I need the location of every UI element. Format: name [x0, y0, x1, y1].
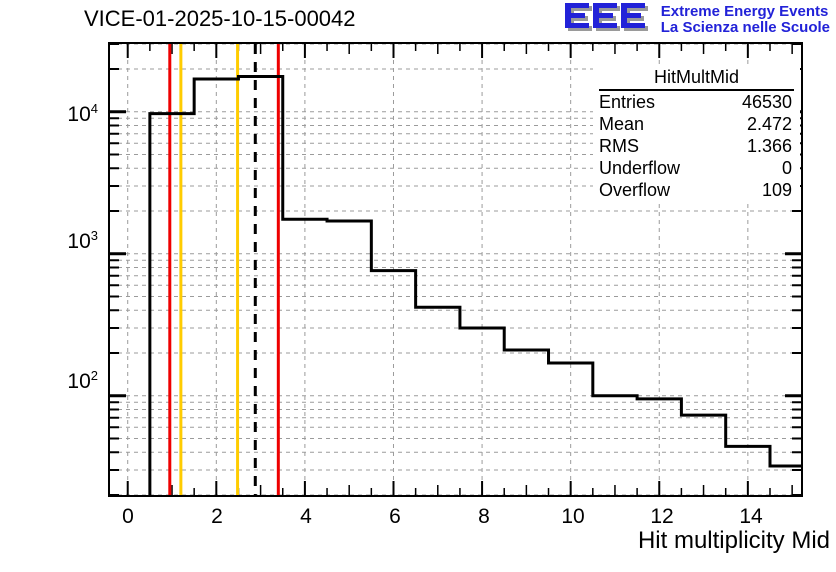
stats-row-overflow: Overflow 109	[597, 180, 796, 202]
stats-row-underflow: Underflow 0	[597, 158, 796, 180]
y-ticklabel-1e3: 103	[46, 228, 98, 254]
root-canvas: VICE-01-2025-10-15-00042	[0, 0, 836, 572]
stats-box: HitMultMid Entries 46530 Mean 2.472 RMS …	[593, 66, 800, 204]
stats-title: HitMultMid	[597, 67, 796, 89]
stats-value-underflow: 0	[782, 158, 796, 180]
x-ticklabel-2: 2	[197, 505, 237, 529]
eee-logo-line2: La Scienza nelle Scuole	[661, 20, 830, 36]
x-ticklabel-6: 6	[375, 505, 415, 529]
stats-value-rms: 1.366	[747, 136, 796, 158]
stats-row-mean: Mean 2.472	[597, 114, 796, 136]
x-ticklabel-12: 12	[642, 505, 682, 529]
x-ticklabel-4: 4	[286, 505, 326, 529]
stats-value-entries: 46530	[742, 92, 796, 114]
x-ticklabel-14: 14	[731, 505, 771, 529]
eee-logo-text: Extreme Energy Events La Scienza nelle S…	[661, 4, 830, 36]
stats-key-entries: Entries	[597, 92, 655, 114]
x-ticklabel-10: 10	[553, 505, 593, 529]
x-ticklabel-0: 0	[108, 505, 148, 529]
stats-key-rms: RMS	[597, 136, 639, 158]
plot-title: VICE-01-2025-10-15-00042	[84, 6, 356, 32]
y-ticklabel-1e4: 104	[46, 101, 98, 127]
stats-key-underflow: Underflow	[597, 158, 680, 180]
stats-value-mean: 2.472	[747, 114, 796, 136]
y-ticklabel-1e2: 102	[46, 368, 98, 394]
eee-logo: Extreme Energy Events La Scienza nelle S…	[562, 2, 830, 38]
stats-value-overflow: 109	[762, 180, 796, 202]
eee-logo-mark-icon	[562, 2, 654, 38]
x-ticklabel-8: 8	[464, 505, 504, 529]
stats-key-mean: Mean	[597, 114, 644, 136]
stats-divider	[599, 89, 794, 91]
x-axis-title: Hit multiplicity Mid	[638, 527, 830, 555]
stats-row-entries: Entries 46530	[597, 92, 796, 114]
stats-key-overflow: Overflow	[597, 180, 670, 202]
eee-logo-line1: Extreme Energy Events	[661, 4, 830, 20]
stats-row-rms: RMS 1.366	[597, 136, 796, 158]
